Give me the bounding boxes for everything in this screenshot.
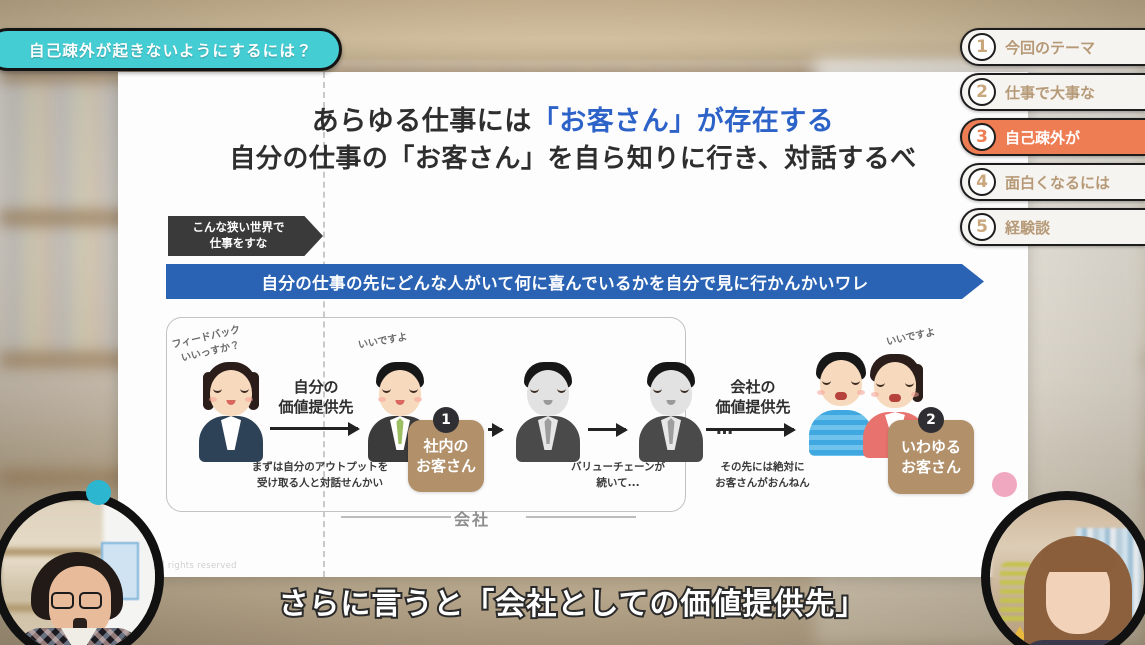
- menu-item-1[interactable]: 1 今回のテーマ: [960, 28, 1145, 66]
- menu-item-4[interactable]: 4 面白くなるには: [960, 163, 1145, 201]
- caption-real-customer: その先には絶対に お客さんがおんねん: [690, 460, 835, 492]
- gray-tag-line1: こんな狭い世界で: [193, 220, 285, 236]
- menu-item-5[interactable]: 5 経験談: [960, 208, 1145, 246]
- badge-number-1: 1: [433, 407, 459, 433]
- menu-number-3: 3: [968, 123, 996, 151]
- badge-end-customer: 2 いわゆる お客さん: [888, 420, 974, 494]
- heading-highlight: 「お客さん」: [532, 106, 697, 137]
- arrow-chain-2: [588, 428, 626, 431]
- menu-number-2: 2: [968, 78, 996, 106]
- menu-label-4: 面白くなるには: [1005, 172, 1110, 193]
- video-stage: あらゆる仕事には「お客さん」が存在する 自分の仕事の「お客さん」を自ら知りに行き…: [0, 0, 1145, 645]
- chapter-menu: 1 今回のテーマ 2 仕事で大事な 3 自己疎外が 4 面白くなるには 5 経験…: [960, 28, 1145, 246]
- menu-label-1: 今回のテーマ: [1005, 37, 1095, 58]
- slide-heading: あらゆる仕事には「お客さん」が存在する 自分の仕事の「お客さん」を自ら知りに行き…: [118, 102, 1028, 179]
- menu-label-3: 自己疎外が: [1005, 127, 1080, 148]
- figure-chain-2: [636, 362, 706, 462]
- arrow2-label: 会社の 価値提供先: [698, 377, 808, 418]
- accent-dot-left: [86, 480, 111, 505]
- subtitle-bar: さらに言うと「会社としての価値提供先」: [0, 579, 1145, 623]
- arrow-company-to-customer: [706, 428, 794, 431]
- arrow1-label: 自分の 価値提供先: [266, 377, 366, 418]
- menu-item-2[interactable]: 2 仕事で大事な: [960, 73, 1145, 111]
- company-label: 会社: [454, 506, 490, 530]
- company-boundary-line: 会社: [166, 510, 886, 524]
- blue-banner-text: 自分の仕事の先にどんな人がいて何に喜んでいるかを自分で見に行かんかいワレ: [261, 270, 868, 294]
- accent-dot-right: [992, 472, 1017, 497]
- presentation-slide: あらゆる仕事には「お客さん」が存在する 自分の仕事の「お客さん」を自ら知りに行き…: [118, 72, 1028, 577]
- menu-item-3[interactable]: 3 自己疎外が: [960, 118, 1145, 156]
- heading-part-3: が存在する: [697, 106, 835, 137]
- menu-number-4: 4: [968, 168, 996, 196]
- scribble-ok-2: いいですよ: [885, 325, 937, 350]
- arrow-self-to-internal: [270, 427, 358, 430]
- menu-number-5: 5: [968, 213, 996, 241]
- badge-number-2: 2: [918, 407, 944, 433]
- menu-label-5: 経験談: [1005, 217, 1050, 238]
- badge-internal-customer: 1 社内の お客さん: [408, 420, 484, 492]
- caption-output: まずは自分のアウトプットを 受け取る人と対話せんかい: [250, 460, 390, 492]
- heading-line-2: 自分の仕事の「お客さん」を自ら知りに行き、対話するべ: [118, 141, 1028, 179]
- subtitle-text: さらに言うと「会社としての価値提供先」: [278, 587, 866, 622]
- topic-title-text: 自己疎外が起きないようにするには？: [29, 39, 313, 61]
- figure-chain-1: [513, 362, 583, 462]
- blue-arrow-banner: 自分の仕事の先にどんな人がいて何に喜んでいるかを自分で見に行かんかいワレ: [166, 264, 984, 299]
- gray-tag-line2: 仕事をすな: [210, 236, 268, 252]
- heading-part-1: あらゆる仕事には: [312, 106, 532, 137]
- figure-self-woman: [196, 362, 266, 462]
- caption-value-chain: バリューチェーンが 続いて...: [533, 460, 703, 492]
- topic-title-banner: 自己疎外が起きないようにするには？: [0, 28, 342, 71]
- menu-number-1: 1: [968, 33, 996, 61]
- menu-label-2: 仕事で大事な: [1005, 82, 1095, 103]
- arrow-chain-1: [488, 428, 502, 431]
- gray-chevron-tag: こんな狭い世界で 仕事をすな: [168, 216, 323, 256]
